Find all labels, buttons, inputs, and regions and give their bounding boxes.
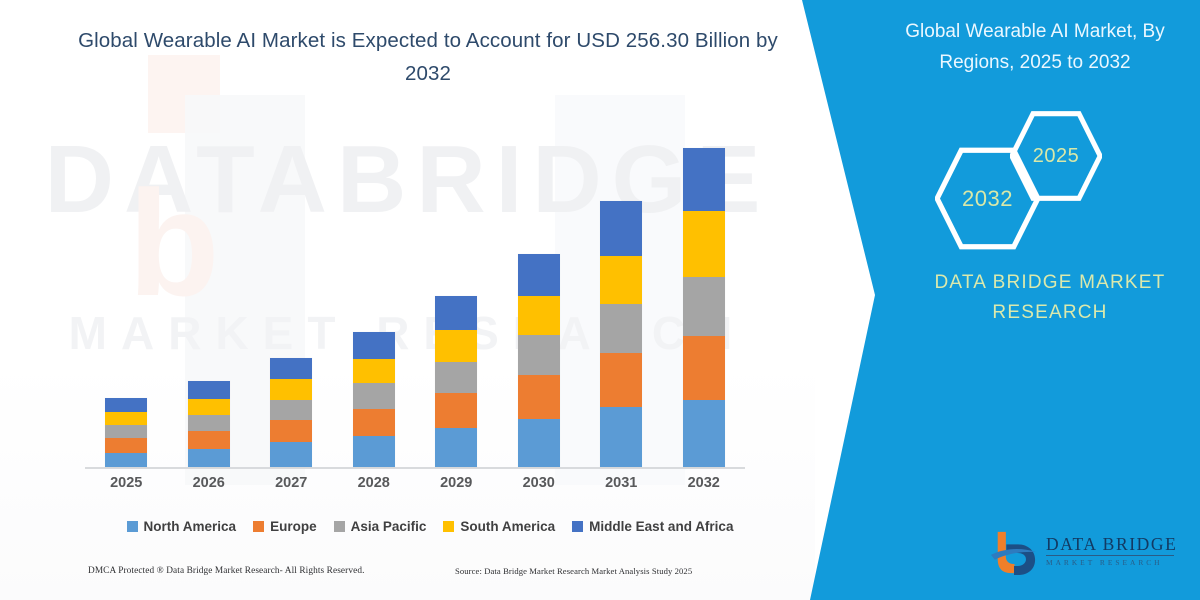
x-axis-tick-label: 2029 — [415, 475, 497, 499]
bar-segment — [188, 399, 230, 415]
infographic-root: b DATABRIDGE MARKET RESEARCH Global Wear… — [0, 0, 1200, 600]
legend-swatch-icon — [127, 521, 138, 532]
legend-item: Asia Pacific — [334, 519, 427, 534]
bar-segment — [518, 254, 560, 296]
bar-segment — [353, 409, 395, 437]
x-axis-tick-label: 2028 — [333, 475, 415, 499]
logo-name: DATA BRIDGE — [1046, 534, 1177, 554]
x-axis-tick-label: 2030 — [498, 475, 580, 499]
bar-segment — [188, 449, 230, 467]
x-axis-tick-label: 2032 — [663, 475, 745, 499]
bar-segment — [353, 383, 395, 409]
bar-segment — [435, 393, 477, 428]
bar-segment — [353, 359, 395, 384]
chart-legend: North AmericaEuropeAsia PacificSouth Ame… — [85, 513, 775, 539]
brand-line-1: DATA BRIDGE MARKET — [900, 268, 1200, 298]
stacked-bar-2026 — [188, 381, 230, 467]
source-note: Source: Data Bridge Market Research Mark… — [455, 566, 692, 576]
stacked-bar-2032 — [683, 148, 725, 467]
bar-segment — [435, 330, 477, 362]
legend-swatch-icon — [253, 521, 264, 532]
bar-segment — [435, 296, 477, 330]
bar-segment — [518, 296, 560, 335]
bar-segment — [270, 420, 312, 442]
stacked-bar-2030 — [518, 254, 560, 467]
bar-segment — [683, 148, 725, 210]
x-axis-labels: 20252026202720282029203020312032 — [85, 475, 745, 499]
legend-label: North America — [144, 519, 237, 534]
stacked-bar-2028 — [353, 332, 395, 467]
hexagon-2025-label: 2025 — [1033, 145, 1080, 168]
bar-segment — [270, 442, 312, 467]
hexagon-2025: 2025 — [1010, 110, 1102, 202]
legend-item: Europe — [253, 519, 317, 534]
bar-segment — [105, 453, 147, 467]
bar-column — [168, 140, 250, 467]
data-bridge-logo: DATA BRIDGE MARKET RESEARCH — [990, 528, 1190, 580]
legend-swatch-icon — [334, 521, 345, 532]
bar-column — [85, 140, 167, 467]
bar-column — [250, 140, 332, 467]
bar-segment — [600, 353, 642, 407]
x-axis-tick-label: 2031 — [580, 475, 662, 499]
bar-segment — [270, 358, 312, 379]
stacked-bar-2027 — [270, 358, 312, 467]
x-axis-line — [85, 467, 745, 469]
bar-column — [580, 140, 662, 467]
bar-column — [333, 140, 415, 467]
bar-segment — [518, 335, 560, 375]
legend-swatch-icon — [443, 521, 454, 532]
bar-segment — [105, 412, 147, 425]
bar-segment — [270, 379, 312, 399]
bar-segment — [435, 428, 477, 467]
chart-title: Global Wearable AI Market is Expected to… — [58, 24, 798, 90]
stacked-bar-2029 — [435, 296, 477, 467]
bar-column — [498, 140, 580, 467]
bar-segment — [683, 336, 725, 399]
x-axis-tick-label: 2025 — [85, 475, 167, 499]
chart-panel: b DATABRIDGE MARKET RESEARCH Global Wear… — [0, 0, 815, 600]
x-axis-tick-label: 2027 — [250, 475, 332, 499]
brand-line-2: RESEARCH — [900, 298, 1200, 328]
legend-item: Middle East and Africa — [572, 519, 733, 534]
bar-segment — [188, 381, 230, 398]
bar-segment — [600, 407, 642, 467]
bar-segment — [105, 438, 147, 452]
legend-label: Europe — [270, 519, 317, 534]
bar-segment — [518, 375, 560, 419]
bar-segment — [683, 211, 725, 277]
legend-label: Middle East and Africa — [589, 519, 733, 534]
bar-segment — [188, 431, 230, 448]
x-axis-tick-label: 2026 — [168, 475, 250, 499]
logo-text: DATA BRIDGE MARKET RESEARCH — [1046, 534, 1177, 567]
bar-segment — [683, 400, 725, 467]
bar-segment — [600, 256, 642, 304]
hexagon-group: 2032 2025 — [915, 110, 1135, 255]
bar-segment — [353, 332, 395, 359]
logo-tagline: MARKET RESEARCH — [1046, 558, 1177, 567]
hexagon-2032-label: 2032 — [962, 186, 1013, 212]
stacked-bar-2031 — [600, 201, 642, 467]
bar-segment — [518, 419, 560, 467]
legend-item: North America — [127, 519, 237, 534]
stacked-bar-2025 — [105, 398, 147, 467]
legend-label: South America — [460, 519, 555, 534]
logo-divider — [1046, 555, 1174, 556]
footer: DMCA Protected ® Data Bridge Market Rese… — [0, 566, 815, 590]
stacked-bar-group — [85, 140, 745, 467]
right-panel-title: Global Wearable AI Market, By Regions, 2… — [880, 16, 1190, 78]
bar-segment — [600, 304, 642, 353]
bar-column — [663, 140, 745, 467]
legend-swatch-icon — [572, 521, 583, 532]
bar-segment — [683, 277, 725, 336]
legend-item: South America — [443, 519, 555, 534]
bar-segment — [270, 400, 312, 420]
brand-name: DATA BRIDGE MARKET RESEARCH — [900, 268, 1200, 328]
bar-column — [415, 140, 497, 467]
legend-label: Asia Pacific — [351, 519, 427, 534]
dmca-notice: DMCA Protected ® Data Bridge Market Rese… — [88, 566, 365, 576]
logo-b-mark-icon — [990, 530, 1038, 576]
bar-segment — [435, 362, 477, 394]
bar-segment — [353, 436, 395, 467]
bar-segment — [600, 201, 642, 255]
bar-segment — [105, 398, 147, 412]
bar-segment — [188, 415, 230, 431]
bar-segment — [105, 425, 147, 438]
